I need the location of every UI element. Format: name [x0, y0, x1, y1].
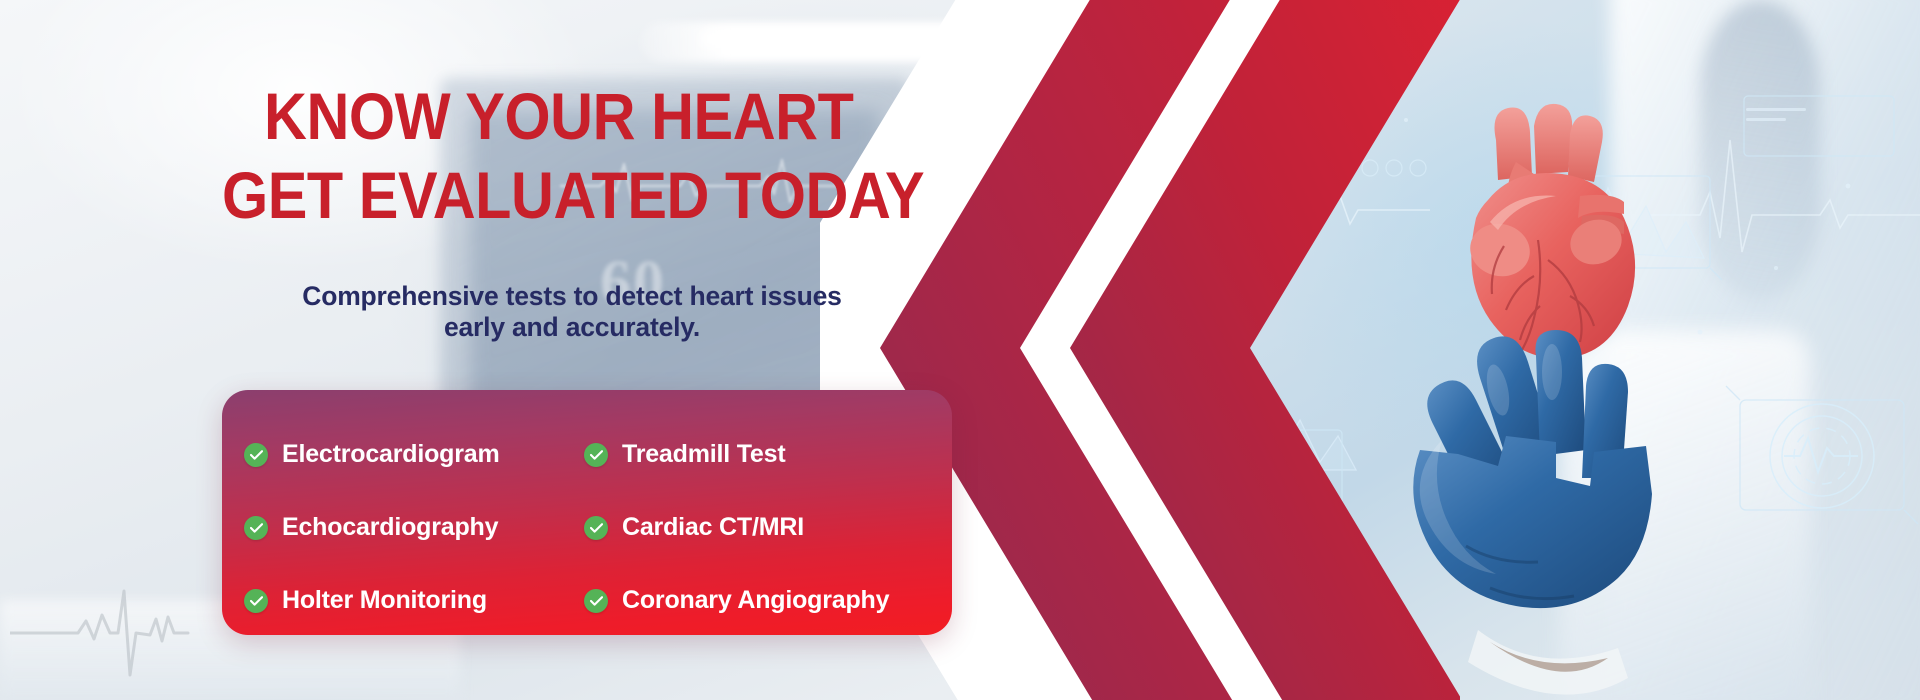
list-item-label: Electrocardiogram: [282, 440, 500, 469]
services-row: Echocardiography Cardiac CT/MRI: [222, 491, 952, 564]
check-circle-icon: [244, 516, 268, 540]
check-circle-icon: [584, 443, 608, 467]
services-list: Electrocardiogram Treadmill Test: [222, 390, 952, 635]
services-row: Electrocardiogram Treadmill Test: [222, 418, 952, 491]
list-item[interactable]: Electrocardiogram: [222, 440, 564, 469]
subtitle: Comprehensive tests to detect heart issu…: [222, 281, 922, 344]
page-title: KNOW YOUR HEART GET EVALUATED TODAY: [222, 84, 942, 227]
list-item[interactable]: Coronary Angiography: [564, 586, 934, 615]
list-item-label: Cardiac CT/MRI: [622, 513, 804, 542]
headline-line-2: GET EVALUATED TODAY: [222, 163, 870, 228]
list-item[interactable]: Echocardiography: [222, 513, 564, 542]
list-item[interactable]: Treadmill Test: [564, 440, 934, 469]
banner-content: KNOW YOUR HEART GET EVALUATED TODAY Comp…: [0, 0, 820, 700]
subtitle-line-1: Comprehensive tests to detect heart issu…: [302, 281, 841, 311]
heart-evaluation-banner: 60: [0, 0, 1920, 700]
list-item[interactable]: Holter Monitoring: [222, 586, 564, 615]
list-item[interactable]: Cardiac CT/MRI: [564, 513, 934, 542]
list-item-label: Treadmill Test: [622, 440, 785, 469]
check-circle-icon: [584, 589, 608, 613]
list-item-label: Holter Monitoring: [282, 586, 487, 615]
list-item-label: Echocardiography: [282, 513, 498, 542]
services-card: Electrocardiogram Treadmill Test: [222, 390, 952, 635]
subtitle-line-2: early and accurately.: [444, 312, 700, 342]
headline-line-1: KNOW YOUR HEART: [264, 84, 874, 149]
check-circle-icon: [244, 589, 268, 613]
list-item-label: Coronary Angiography: [622, 586, 889, 615]
check-circle-icon: [584, 516, 608, 540]
services-row: Holter Monitoring Coronary Angiography: [222, 564, 952, 635]
check-circle-icon: [244, 443, 268, 467]
